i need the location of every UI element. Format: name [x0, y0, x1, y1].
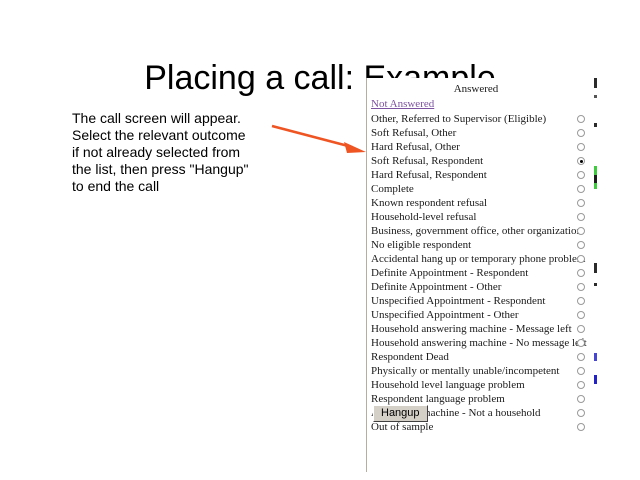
- call-outcome-radio[interactable]: [577, 255, 585, 263]
- call-outcome-radio[interactable]: [577, 409, 585, 417]
- call-outcome-radio[interactable]: [577, 241, 585, 249]
- body-text-line: if not already selected from: [72, 144, 272, 161]
- call-outcome-row[interactable]: Business, government office, other organ…: [367, 224, 591, 238]
- call-outcome-row[interactable]: Household answering machine - No message…: [367, 336, 591, 350]
- call-outcome-label: Hard Refusal, Other: [371, 140, 460, 154]
- call-outcome-row[interactable]: Household answering machine - Message le…: [367, 322, 591, 336]
- call-outcome-label: Soft Refusal, Respondent: [371, 154, 483, 168]
- call-outcome-label: Definite Appointment - Respondent: [371, 266, 528, 280]
- call-outcome-label: Soft Refusal, Other: [371, 126, 456, 140]
- body-text-block: The call screen will appear. Select the …: [72, 110, 272, 195]
- call-outcome-row[interactable]: Soft Refusal, Other: [367, 126, 591, 140]
- pointer-arrow-icon: [270, 118, 370, 160]
- strip-fragment: [594, 183, 597, 189]
- call-outcome-radio[interactable]: [577, 367, 585, 375]
- call-outcome-radio[interactable]: [577, 325, 585, 333]
- call-outcome-radio[interactable]: [577, 115, 585, 123]
- call-outcome-row[interactable]: Respondent language problem: [367, 392, 591, 406]
- call-outcome-radio[interactable]: [577, 297, 585, 305]
- call-outcome-row[interactable]: Accidental hang up or temporary phone pr…: [367, 252, 591, 266]
- body-text-line: the list, then press "Hangup": [72, 161, 272, 178]
- strip-fragment: [594, 175, 597, 183]
- call-outcome-row[interactable]: Unspecified Appointment - Other: [367, 308, 591, 322]
- call-outcome-radio[interactable]: [577, 185, 585, 193]
- call-outcome-row[interactable]: Respondent Dead: [367, 350, 591, 364]
- call-outcome-radio[interactable]: [577, 269, 585, 277]
- not-answered-link[interactable]: Not Answered: [371, 98, 434, 110]
- call-outcome-label: Unspecified Appointment - Respondent: [371, 294, 545, 308]
- call-outcome-radio[interactable]: [577, 283, 585, 291]
- strip-fragment: [594, 78, 597, 88]
- call-outcome-label: Business, government office, other organ…: [371, 224, 582, 238]
- call-outcome-radio[interactable]: [577, 311, 585, 319]
- call-outcome-radio[interactable]: [577, 129, 585, 137]
- call-outcome-radio[interactable]: [577, 227, 585, 235]
- call-outcome-radio[interactable]: [577, 171, 585, 179]
- call-outcome-label: Unspecified Appointment - Other: [371, 308, 519, 322]
- call-outcome-radio[interactable]: [577, 199, 585, 207]
- call-outcome-label: Respondent language problem: [371, 392, 505, 406]
- call-outcome-row[interactable]: No eligible respondent: [367, 238, 591, 252]
- call-outcome-radio[interactable]: [577, 339, 585, 347]
- call-outcome-row[interactable]: Household-level refusal: [367, 210, 591, 224]
- call-outcome-row[interactable]: Complete: [367, 182, 591, 196]
- call-outcome-label: Hard Refusal, Respondent: [371, 168, 487, 182]
- call-outcome-row[interactable]: Household level language problem: [367, 378, 591, 392]
- call-outcome-label: Household answering machine - No message…: [371, 336, 587, 350]
- strip-fragment: [594, 123, 597, 127]
- call-screen-screenshot: Answered Not Answered Other, Referred to…: [366, 78, 598, 472]
- answered-header: Answered: [367, 83, 585, 95]
- call-outcome-row[interactable]: Out of sample: [367, 420, 591, 434]
- strip-fragment: [594, 283, 597, 286]
- call-outcome-row[interactable]: Hard Refusal, Other: [367, 140, 591, 154]
- call-outcome-row[interactable]: Hard Refusal, Respondent: [367, 168, 591, 182]
- call-outcome-row[interactable]: Known respondent refusal: [367, 196, 591, 210]
- call-outcome-label: Out of sample: [371, 420, 433, 434]
- body-text-line: The call screen will appear.: [72, 110, 272, 127]
- call-outcome-label: Respondent Dead: [371, 350, 449, 364]
- call-outcome-row[interactable]: Other, Referred to Supervisor (Eligible): [367, 112, 591, 126]
- hangup-button[interactable]: Hangup: [373, 405, 428, 422]
- call-outcome-radio[interactable]: [577, 353, 585, 361]
- cropped-scrollbar-strip: [594, 78, 598, 472]
- call-outcome-label: Household level language problem: [371, 378, 525, 392]
- call-outcome-label: Definite Appointment - Other: [371, 280, 501, 294]
- slide-canvas: Placing a call: Example The call screen …: [0, 0, 640, 480]
- call-outcome-radio[interactable]: [577, 157, 585, 165]
- strip-fragment: [594, 166, 597, 175]
- call-outcome-radio[interactable]: [577, 423, 585, 431]
- call-outcome-label: Physically or mentally unable/incompeten…: [371, 364, 559, 378]
- call-outcome-list: Other, Referred to Supervisor (Eligible)…: [367, 112, 591, 434]
- call-outcome-label: Accidental hang up or temporary phone pr…: [371, 252, 585, 266]
- call-outcome-label: No eligible respondent: [371, 238, 471, 252]
- call-outcome-radio[interactable]: [577, 395, 585, 403]
- strip-fragment: [594, 375, 597, 384]
- call-outcome-row[interactable]: Soft Refusal, Respondent: [367, 154, 591, 168]
- call-outcome-row[interactable]: Definite Appointment - Other: [367, 280, 591, 294]
- strip-fragment: [594, 353, 597, 361]
- call-outcome-row[interactable]: Definite Appointment - Respondent: [367, 266, 591, 280]
- call-outcome-row[interactable]: Unspecified Appointment - Respondent: [367, 294, 591, 308]
- call-outcome-label: Other, Referred to Supervisor (Eligible): [371, 112, 546, 126]
- call-outcome-label: Household answering machine - Message le…: [371, 322, 572, 336]
- call-outcome-radio[interactable]: [577, 381, 585, 389]
- call-outcome-row[interactable]: Physically or mentally unable/incompeten…: [367, 364, 591, 378]
- call-outcome-label: Complete: [371, 182, 414, 196]
- body-text-line: to end the call: [72, 178, 272, 195]
- call-outcome-radio[interactable]: [577, 213, 585, 221]
- call-outcome-radio[interactable]: [577, 143, 585, 151]
- strip-fragment: [594, 263, 597, 273]
- call-outcome-label: Household-level refusal: [371, 210, 476, 224]
- strip-fragment: [594, 95, 597, 98]
- body-text-line: Select the relevant outcome: [72, 127, 272, 144]
- call-outcome-label: Known respondent refusal: [371, 196, 487, 210]
